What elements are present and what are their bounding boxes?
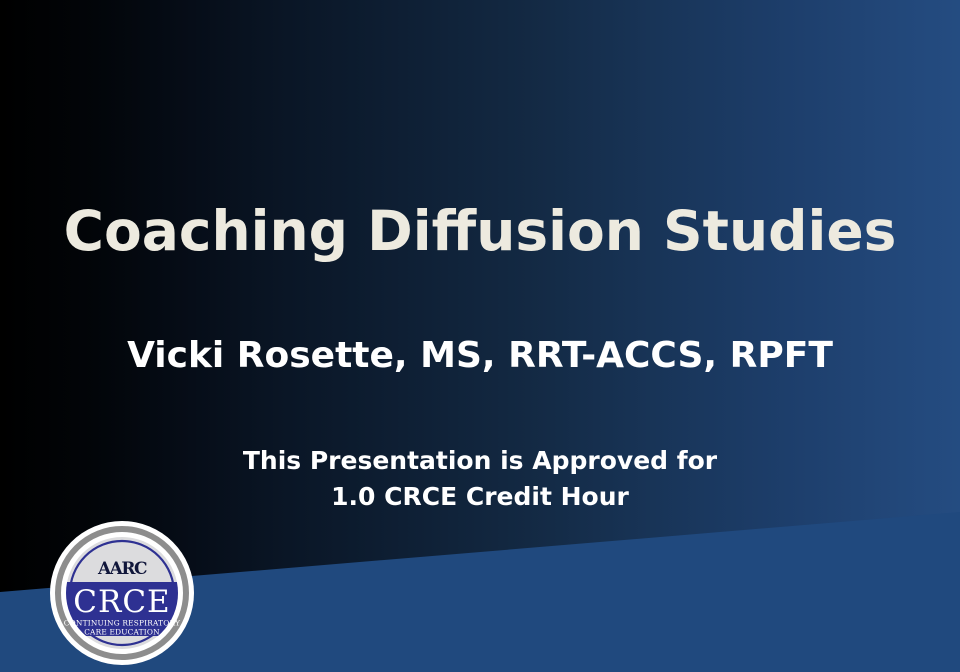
crce-accreditation-seal: AARC CRCE CONTINUING RESPIRATORY CARE ED… <box>48 519 196 667</box>
presentation-title-slide: Coaching Diffusion Studies Vicki Rosette… <box>0 0 960 672</box>
presenter-name: Vicki Rosette, MS, RRT-ACCS, RPFT <box>0 336 960 376</box>
page-title: Coaching Diffusion Studies <box>0 203 960 261</box>
approval-statement: This Presentation is Approved for 1.0 CR… <box>0 443 960 514</box>
aarc-logo-text: AARC <box>97 559 147 579</box>
approval-line-1: This Presentation is Approved for <box>0 443 960 479</box>
approval-line-2: 1.0 CRCE Credit Hour <box>0 479 960 515</box>
crce-tagline-line-1: CONTINUING RESPIRATORY <box>64 619 180 628</box>
crce-tagline-line-2: CARE EDUCATION <box>84 628 160 637</box>
crce-acronym-text: CRCE <box>73 584 170 620</box>
